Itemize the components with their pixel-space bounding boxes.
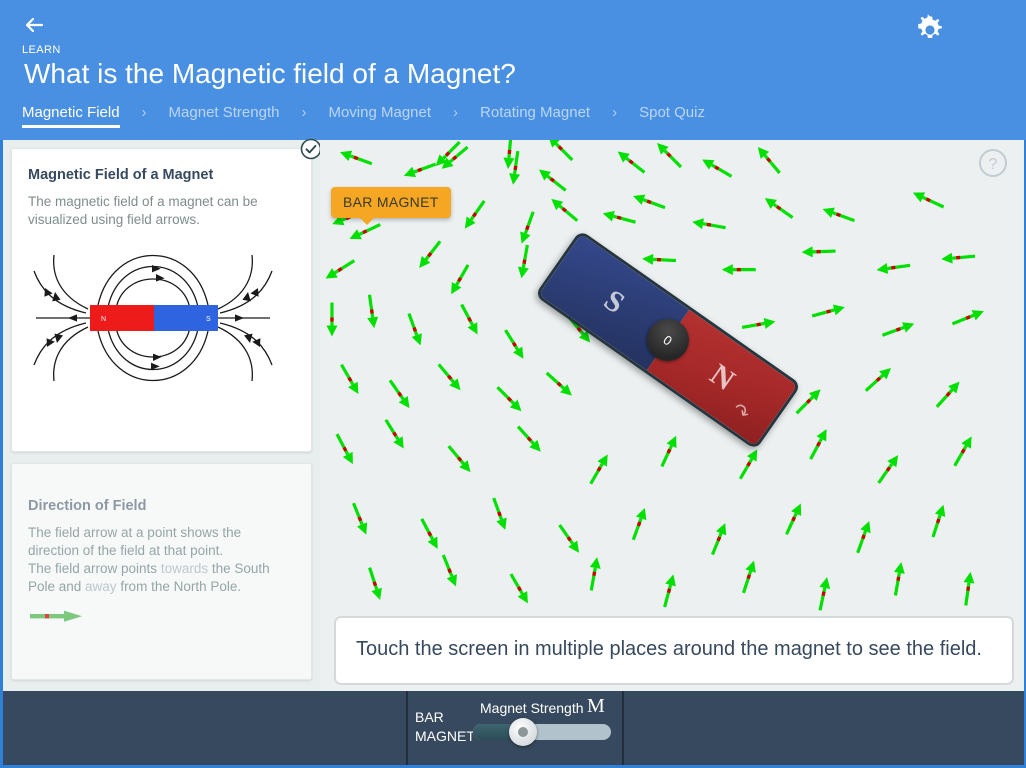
- card-text: The field arrow at a point shows the dir…: [28, 524, 295, 596]
- chevron-right-icon: ›: [279, 104, 328, 128]
- tab-magnetic-field[interactable]: Magnetic Field: [22, 104, 120, 128]
- field-arrow: [555, 522, 583, 556]
- field-arrow: [494, 383, 526, 415]
- toolbar-object-label: BAR MAGNET: [415, 708, 475, 746]
- field-arrow: [460, 198, 488, 232]
- field-arrow: [801, 246, 835, 258]
- field-arrow: [402, 159, 438, 181]
- field-arrow: [741, 316, 776, 333]
- field-arrow: [707, 521, 730, 557]
- field-arrow: [457, 302, 483, 337]
- highlight-away: away: [85, 579, 117, 594]
- field-arrow: [950, 434, 976, 469]
- field-arrow: [543, 369, 576, 400]
- text-line-3b: the South: [208, 561, 270, 576]
- field-arrow: [928, 503, 949, 539]
- field-arrow: [332, 432, 358, 467]
- field-arrow: [445, 443, 475, 476]
- field-arrow: [548, 195, 581, 225]
- page-title: What is the Magnetic field of a Magnet?: [24, 58, 516, 90]
- field-arrow: [821, 204, 857, 226]
- field-arrow: [326, 303, 337, 337]
- magnet-strength-slider[interactable]: [473, 724, 611, 740]
- field-arrow: [435, 361, 465, 394]
- north-pole-label: N: [703, 358, 740, 398]
- field-arrow: [890, 561, 907, 596]
- gear-icon[interactable]: [912, 12, 948, 48]
- rotation-value: 0: [661, 332, 676, 348]
- field-arrow: [506, 571, 532, 606]
- field-arrow: [601, 208, 637, 227]
- field-arrow: [501, 327, 528, 362]
- field-arrow: [631, 191, 667, 213]
- field-arrow: [364, 294, 380, 329]
- object-label-line2: MAGNET: [415, 727, 475, 746]
- field-arrow: [876, 260, 911, 276]
- field-arrow: [911, 188, 946, 212]
- field-arrow: [657, 433, 681, 468]
- field-arrow: [874, 452, 902, 486]
- chevron-right-icon: ›: [431, 104, 480, 128]
- field-arrow: [722, 264, 756, 275]
- field-arrow: [417, 516, 443, 551]
- field-arrow: [338, 147, 374, 169]
- magnet-strength-symbol: M: [587, 695, 605, 718]
- tab-magnet-strength[interactable]: Magnet Strength: [169, 104, 280, 128]
- card-text: The magnetic field of a magnet can be vi…: [28, 193, 295, 229]
- field-arrow: [586, 452, 612, 487]
- magnetic-field-lines-diagram: N S: [28, 243, 295, 398]
- text-line-4b: from the North Pole.: [117, 579, 242, 594]
- field-arrow: [852, 519, 874, 555]
- field-arrow: [642, 253, 676, 266]
- field-arrow: [415, 238, 445, 271]
- field-arrow: [404, 312, 426, 348]
- field-arrow: [806, 427, 832, 462]
- help-circle-icon[interactable]: ?: [978, 148, 1008, 178]
- card-title: Magnetic Field of a Magnet: [28, 167, 295, 183]
- field-arrow: [815, 576, 833, 611]
- south-pole-label: S: [597, 283, 630, 320]
- field-arrow: [337, 362, 363, 397]
- field-arrow: [438, 553, 461, 589]
- field-arrow: [381, 417, 408, 452]
- field-arrow: [386, 377, 414, 411]
- text-line-1: The field arrow at a point shows the: [28, 525, 241, 540]
- text-line-3a: The field arrow points: [28, 561, 161, 576]
- check-circle-icon: [300, 138, 322, 160]
- svg-text:N: N: [101, 316, 106, 323]
- field-arrow: [862, 364, 895, 395]
- instruction-panel: Touch the screen in multiple places arou…: [334, 616, 1014, 685]
- field-arrow: [516, 244, 533, 279]
- field-arrow: [489, 496, 511, 532]
- field-arrow: [950, 306, 986, 329]
- object-label-line1: BAR: [415, 708, 475, 727]
- tab-spot-quiz[interactable]: Spot Quiz: [639, 104, 705, 128]
- card-title: Direction of Field: [28, 498, 295, 514]
- green-field-arrow-icon: [28, 608, 295, 629]
- field-arrow: [699, 155, 734, 181]
- field-arrow: [536, 165, 569, 195]
- text-line-4a: Pole and: [28, 579, 85, 594]
- field-arrow: [782, 501, 806, 536]
- toolbar-divider-left: [406, 691, 408, 765]
- chevron-right-icon: ›: [590, 104, 639, 128]
- slider-thumb[interactable]: [509, 718, 537, 746]
- field-arrow-layer: [320, 140, 1024, 689]
- field-arrow: [754, 143, 784, 176]
- field-arrow: [446, 262, 472, 297]
- back-arrow-icon[interactable]: [20, 10, 50, 40]
- magnet-strength-label: Magnet Strength: [480, 700, 584, 716]
- field-arrow: [881, 319, 917, 341]
- magnet-tooltip: BAR MAGNET: [331, 187, 451, 218]
- field-arrow: [960, 571, 976, 606]
- magnetism-learning-app: LEARN What is the Magnetic field of a Ma…: [0, 0, 1026, 768]
- field-arrow: [653, 140, 685, 171]
- field-arrow: [514, 423, 545, 456]
- tab-bar[interactable]: Magnetic Field › Magnet Strength › Movin…: [22, 104, 705, 128]
- field-arrow: [628, 506, 650, 542]
- field-arrow: [762, 194, 796, 222]
- field-arrow: [364, 566, 385, 602]
- card-direction-of-field: Direction of Field The field arrow at a …: [11, 463, 312, 680]
- sidebar: Magnetic Field of a Magnet The magnetic …: [3, 140, 320, 691]
- svg-text:?: ?: [989, 156, 998, 173]
- field-arrow: [811, 302, 847, 321]
- field-arrow: [614, 147, 647, 177]
- field-arrow: [738, 559, 759, 595]
- tab-moving-magnet[interactable]: Moving Magnet: [328, 104, 431, 128]
- field-arrow: [941, 251, 976, 265]
- field-arrow: [659, 573, 678, 609]
- simulation-canvas[interactable]: ? S N ↷ 0 BAR MAGNET Touc: [320, 140, 1024, 691]
- card-magnetic-field-of-a-magnet: Magnetic Field of a Magnet The magnetic …: [11, 148, 312, 452]
- bottom-toolbar: BAR MAGNET Magnet Strength M: [0, 691, 1026, 768]
- body-area: Magnetic Field of a Magnet The magnetic …: [0, 140, 1026, 691]
- svg-text:S: S: [206, 316, 211, 323]
- field-arrow: [736, 447, 762, 482]
- field-arrow: [544, 140, 576, 164]
- text-line-2: direction of the field at that point.: [28, 543, 223, 558]
- field-arrow: [933, 378, 964, 411]
- app-header: LEARN What is the Magnetic field of a Ma…: [0, 0, 1026, 140]
- highlight-towards: towards: [161, 561, 208, 576]
- toolbar-divider-right: [622, 691, 624, 765]
- tab-rotating-magnet[interactable]: Rotating Magnet: [480, 104, 590, 128]
- field-arrow: [586, 556, 603, 591]
- field-arrow: [516, 210, 538, 246]
- breadcrumb: LEARN: [22, 44, 61, 56]
- field-arrow: [323, 256, 358, 283]
- chevron-right-icon: ›: [120, 104, 169, 128]
- field-arrow: [348, 501, 371, 537]
- field-arrow: [691, 216, 726, 233]
